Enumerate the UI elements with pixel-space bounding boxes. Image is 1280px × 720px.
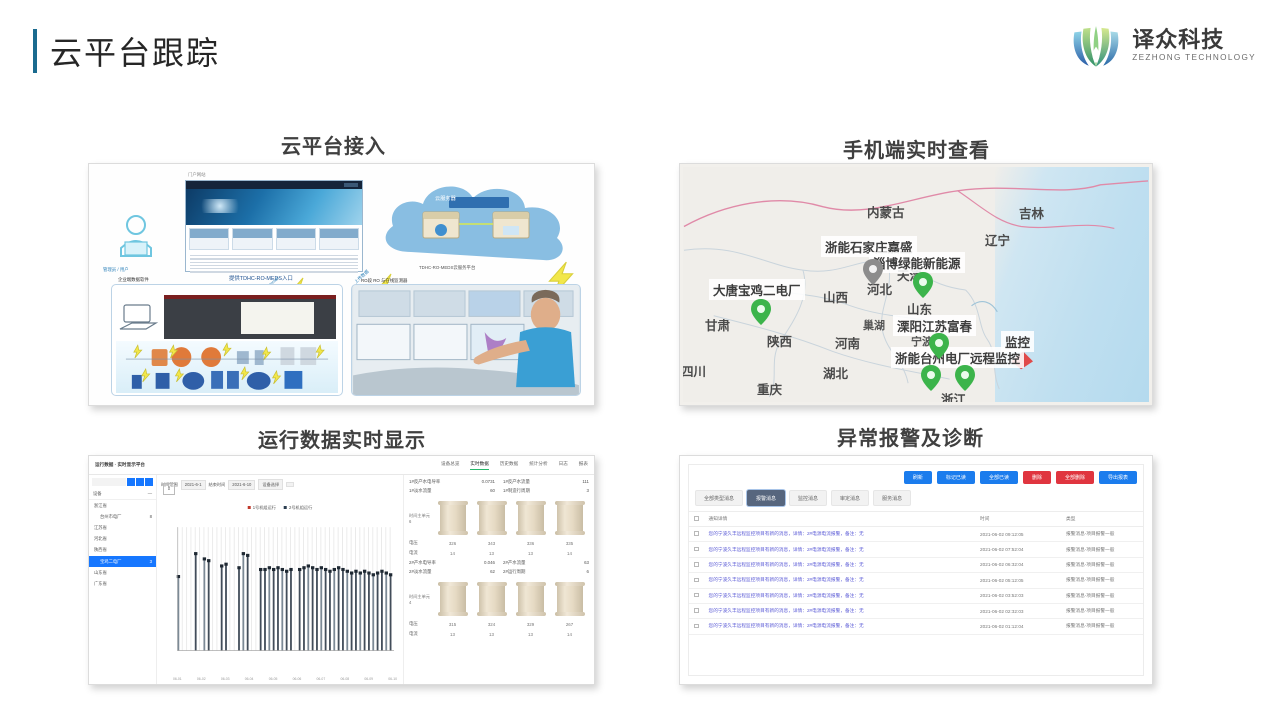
cell: 267 (550, 622, 589, 627)
title-accent-bar (33, 29, 37, 73)
user-person-icon (111, 212, 161, 264)
tank-graphic (479, 501, 505, 535)
web-portal-screenshot (185, 180, 363, 272)
cell-detail[interactable]: 您的宁波久丰远程监控项目有新的消息，详情：2#电源电流报警，备注：无 (704, 619, 976, 634)
cell-detail[interactable]: 您的宁波久丰远程监控项目有新的消息，详情：2#电源电流报警，备注：无 (704, 542, 976, 557)
tab-review-messages[interactable]: 审定消息 (831, 490, 869, 506)
cell: 14 (550, 632, 589, 637)
cell-time: 2021-06-02 01:12:04 (975, 619, 1061, 634)
map-label-chaohu: 巢湖 (863, 317, 885, 333)
device-tree-node[interactable]: 江苏省 (89, 522, 156, 533)
metric-key: 1#制造行周期 (503, 488, 530, 494)
person-role-label: 管理员 / 用户 (103, 267, 129, 273)
metric-kv: 1#制造行周期 3 (503, 488, 589, 494)
tank-graphic (518, 582, 544, 616)
map-label-gansu: 甘肃 (705, 315, 730, 334)
cell: 13 (511, 632, 550, 637)
page-title-text: 云平台跟踪 (50, 28, 220, 74)
refresh-button[interactable]: 刷新 (904, 471, 932, 484)
metric-value: 63 (584, 560, 589, 566)
logo-name-cn: 译众科技 (1132, 28, 1256, 52)
metric-value: 0.0731 (482, 479, 495, 485)
export-report-button[interactable]: 导出报表 (1099, 471, 1137, 484)
table-row[interactable]: 您的宁波久丰远程监控项目有新的消息，详情：2#电源电流报警，备注：无2021-0… (689, 603, 1143, 618)
cell-type: 报警消息-项目报警一般 (1061, 619, 1143, 634)
column-detail: 通知详情 (704, 512, 976, 527)
row-label: 电压 (409, 621, 433, 627)
table-row[interactable]: 您的宁波久丰远程监控项目有新的消息，详情：2#电源电流报警，备注：无2021-0… (689, 588, 1143, 603)
tank-graphic (479, 582, 505, 616)
table-header-row: 通知详情 时间 类型 (689, 512, 1143, 527)
map-label-shaanxi: 陕西 (767, 331, 792, 350)
cell: 14 (550, 551, 589, 556)
chart-svg (173, 521, 397, 665)
cell: 13 (511, 551, 550, 556)
device-tree-node[interactable]: 台州市电厂 8 (89, 511, 156, 522)
cloud-node-title: 云服务器 (435, 195, 456, 202)
quadrant-title-alarm-diagnosis: 异常报警及诊断 (837, 422, 984, 451)
runtime-data-panel: 运行数据 · 实时显示平台 设备总览 实时数据 历史数据 统计分析 日志 报表 (88, 455, 595, 685)
row-checkbox[interactable] (694, 562, 699, 567)
filter-icon[interactable] (136, 478, 144, 486)
chart-export-icon[interactable]: ⇕ (163, 483, 175, 495)
metric-key: 2#淡水流量 (409, 569, 431, 575)
cell-type: 报警消息-项目报警一般 (1061, 573, 1143, 588)
tree-node-label: 河北省 (94, 536, 107, 542)
select-all-cell[interactable] (689, 512, 704, 527)
map-label-chongqing: 重庆 (757, 379, 782, 398)
cell: 335 (550, 541, 589, 546)
runtime-metrics-table: 1#反产水电导率 0.0731 1#反产水流量 111 1#淡水流量 60 1#… (404, 475, 594, 685)
metric-kv: 2#运行周期 6 (503, 569, 589, 575)
process-flow-svg (116, 341, 338, 393)
cell-type: 报警消息-项目报警一般 (1061, 603, 1143, 618)
row-select-cell[interactable] (689, 557, 704, 572)
legend-label-2: 2号机组运行 (289, 505, 312, 510)
table-row[interactable]: 您的宁波久丰远程监控项目有新的消息，详情：2#电源电流报警，备注：无2021-0… (689, 619, 1143, 634)
device-tree-node[interactable]: 山东省 (89, 567, 156, 578)
row-select-cell[interactable] (689, 619, 704, 634)
cell: 326 (433, 541, 472, 546)
map-label-henan: 河南 (835, 333, 860, 352)
quadrant-title-runtime-data: 运行数据实时显示 (258, 424, 426, 453)
runtime-body: 设备 — 浙江省 台州市电厂 8 江苏省 河北省 (89, 475, 594, 685)
cell-detail[interactable]: 您的宁波久丰远程监控项目有新的消息，详情：2#电源电流报警，备注：无 (704, 573, 976, 588)
row-checkbox[interactable] (694, 578, 699, 583)
metric-value: 0.046 (484, 560, 495, 566)
slide-root: 云平台跟踪 (0, 0, 1280, 720)
cell: 13 (472, 551, 511, 556)
x-tick: 06-06 (293, 677, 302, 681)
metric-kv: 2#产水电导率 0.046 (409, 560, 495, 566)
legend-item-1: 1号机组运行 (248, 505, 276, 511)
x-tick: 06-04 (245, 677, 254, 681)
tank-graphic (557, 501, 583, 535)
alarm-tabs: 全部类型消息 报警消息 监控消息 审定消息 服务消息 (689, 488, 1143, 511)
photo-caption-label: RO段 RO 与在线监测器 (361, 278, 407, 284)
map-pin-offline[interactable] (863, 259, 883, 285)
tree-node-label: 浙江省 (94, 503, 107, 509)
tab-service-messages[interactable]: 服务消息 (873, 490, 911, 506)
device-tree-node[interactable]: 河北省 (89, 534, 156, 545)
row-select-cell[interactable] (689, 588, 704, 603)
tree-node-label: 台州市电厂 (100, 514, 121, 520)
cell-detail[interactable]: 您的宁波久丰远程监控项目有新的消息，详情：2#电源电流报警，备注：无 (704, 588, 976, 603)
enterprise-software-box: 企业端数据软件 人工录入数据 (111, 284, 343, 396)
legend-label-1: 1号机组运行 (253, 505, 276, 510)
metric-value: 62 (490, 569, 495, 575)
filter-query-button[interactable] (286, 482, 294, 487)
device-search-input[interactable] (92, 478, 126, 486)
refresh-icon[interactable] (145, 478, 153, 486)
tree-node-label: 广东省 (94, 581, 107, 587)
row-select-cell[interactable] (689, 527, 704, 542)
unit-label-1: 时间主单元 6 (409, 513, 433, 524)
row-label: 电流 (409, 631, 433, 637)
tank-graphic (518, 501, 544, 535)
cell-time: 2021-06-02 05:12:05 (975, 573, 1061, 588)
page-title: 云平台跟踪 (33, 28, 220, 74)
map-site-label-zibo[interactable]: 淄博绿能新能源 (869, 252, 965, 273)
table-row[interactable]: 您的宁波久丰远程监控项目有新的消息，详情：2#电源电流报警，备注：无2021-0… (689, 527, 1143, 542)
tab-all-messages[interactable]: 全部类型消息 (695, 490, 743, 506)
lotus-logo-icon (1069, 18, 1123, 72)
logo-text-block: 译众科技 ZEZHONG TECHNOLOGY (1132, 28, 1256, 63)
voltage-row-1: 电压 326 343 336 335 (409, 540, 589, 546)
delete-button[interactable]: 删除 (1023, 471, 1051, 484)
device-tree-node[interactable]: 广东省 (89, 578, 156, 589)
enterprise-box-label: 企业端数据软件 (118, 277, 149, 283)
metric-key: 1#淡水流量 (409, 488, 431, 494)
cell-detail[interactable]: 您的宁波久丰远程监控项目有新的消息，详情：2#电源电流报警，备注：无 (704, 527, 976, 542)
map-label-shanxi: 山西 (823, 287, 848, 306)
row-checkbox[interactable] (694, 593, 699, 598)
search-icon[interactable] (127, 478, 135, 486)
filter-label: 结束时间 (209, 482, 226, 488)
chart-plot (173, 521, 397, 665)
cloud-platform-label: TDHC-RO-MEDS云服务平台 (419, 265, 475, 271)
filter-end-date[interactable]: 2021-6-10 (228, 480, 255, 490)
metric-kv: 1#淡水流量 60 (409, 488, 495, 494)
metric-value: 6 (587, 569, 589, 575)
control-room-photo (351, 284, 581, 396)
alarm-diagnosis-panel: 刷新 标记已读 全部已读 删除 全部删除 导出报表 全部类型消息 报警消息 监控… (679, 455, 1153, 685)
cell-time: 2021-06-02 06:32:04 (975, 557, 1061, 572)
cell: 13 (433, 632, 472, 637)
cell-type: 报警消息-项目报警一般 (1061, 557, 1143, 572)
metric-key: 1#反产水流量 (503, 479, 530, 485)
map-label-hubei: 湖北 (823, 363, 848, 382)
quadrant-title-cloud-access: 云平台接入 (281, 130, 386, 159)
current-row-1: 电流 14 13 13 14 (409, 550, 589, 556)
map-label-sichuan: 四川 (683, 361, 706, 380)
cell-time: 2021-06-02 07:52:04 (975, 542, 1061, 557)
legend-item-2: 2号机组运行 (284, 505, 312, 511)
runtime-nav[interactable]: 设备总览 实时数据 历史数据 统计分析 日志 报表 (441, 461, 588, 470)
row-label: 电压 (409, 540, 433, 546)
chart-filter-bar[interactable]: 时间范围 2021-6-1 结束时间 2021-6-10 设备选择 (157, 475, 403, 494)
voltage-row-2: 电压 315 324 329 267 (409, 621, 589, 627)
runtime-topbar: 运行数据 · 实时显示平台 设备总览 实时数据 历史数据 统计分析 日志 报表 (89, 456, 594, 475)
metric-key: 2#运行周期 (503, 569, 525, 575)
process-flow-graphic (116, 341, 338, 393)
browser-title-bar (186, 181, 362, 189)
cell-detail[interactable]: 您的宁波久丰远程监控项目有新的消息，详情：2#电源电流报警，备注：无 (704, 557, 976, 572)
metric-key: 2#产水流量 (503, 560, 525, 566)
x-tick: 06-02 (197, 677, 206, 681)
metric-kv: 2#产水流量 63 (503, 560, 589, 566)
tree-node-label: 江苏省 (94, 525, 107, 531)
row-checkbox[interactable] (694, 547, 699, 552)
metric-value: 60 (490, 488, 495, 494)
tank-graphic (440, 582, 466, 616)
device-tree-node-selected[interactable]: 宝鸡二电厂 3 (89, 556, 156, 567)
map-pin-online[interactable] (929, 333, 949, 359)
filter-device-select[interactable]: 设备选择 (258, 479, 283, 490)
company-logo: 译众科技 ZEZHONG TECHNOLOGY (1069, 18, 1256, 72)
select-all-checkbox[interactable] (694, 516, 699, 521)
collapse-icon[interactable]: — (148, 491, 152, 497)
row-select-cell[interactable] (689, 542, 704, 557)
metric-value: 3 (587, 488, 589, 494)
cell-type: 报警消息-项目报警一般 (1061, 527, 1143, 542)
x-tick: 06-09 (364, 677, 373, 681)
control-room-illustration (352, 285, 580, 395)
x-tick: 06-08 (340, 677, 349, 681)
portal-card (232, 228, 272, 250)
row-checkbox[interactable] (694, 624, 699, 629)
runtime-nav-item[interactable]: 统计分析 (529, 461, 547, 470)
current-row-2: 电流 13 13 13 14 (409, 631, 589, 637)
cell-time: 2021-06-02 03:52:03 (975, 588, 1061, 603)
alarm-table-body: 您的宁波久丰远程监控项目有新的消息，详情：2#电源电流报警，备注：无2021-0… (689, 527, 1143, 635)
metric-kv: 1#反产水电导率 0.0731 (409, 479, 495, 485)
cell: 336 (511, 541, 550, 546)
quadrant-title-mobile-view: 手机端实时查看 (843, 134, 990, 163)
device-tree-node[interactable]: 浙江省 (89, 500, 156, 511)
software-screenshot (164, 295, 336, 339)
tab-alarm-messages[interactable]: 报警消息 (747, 490, 785, 506)
map-site-label-monitor[interactable]: 监控 (1001, 331, 1034, 352)
map-label-jilin: 吉林 (1019, 203, 1044, 222)
portal-card (319, 228, 359, 250)
cell: 14 (433, 551, 472, 556)
tree-node-count: 8 (150, 514, 152, 520)
table-row[interactable]: 您的宁波久丰远程监控项目有新的消息，详情：2#电源电流报警，备注：无2021-0… (689, 542, 1143, 557)
mark-all-read-button[interactable]: 全部已读 (980, 471, 1018, 484)
cell-time: 2021-06-02 09:12:05 (975, 527, 1061, 542)
chart-legend: 1号机组运行 2号机组运行 (248, 505, 313, 511)
mark-read-button[interactable]: 标记已读 (937, 471, 975, 484)
x-tick: 06-10 (388, 677, 397, 681)
cell-detail[interactable]: 您的宁波久丰远程监控项目有新的消息，详情：2#电源电流报警，备注：无 (704, 603, 976, 618)
row-checkbox[interactable] (694, 531, 699, 536)
row-select-cell[interactable] (689, 573, 704, 588)
x-tick: 06-03 (221, 677, 230, 681)
logo-name-en: ZEZHONG TECHNOLOGY (1132, 53, 1256, 62)
alarm-inner: 刷新 标记已读 全部已读 删除 全部删除 导出报表 全部类型消息 报警消息 监控… (688, 464, 1144, 676)
map-label-liaoning: 辽宁 (985, 230, 1010, 249)
cell: 324 (472, 622, 511, 627)
row-checkbox[interactable] (694, 608, 699, 613)
cell: 343 (472, 541, 511, 546)
map-pin-online[interactable] (921, 365, 941, 391)
cell: 13 (472, 632, 511, 637)
device-tree-header: 设备 — (89, 489, 156, 500)
column-type: 类型 (1061, 512, 1143, 527)
metric-kv: 1#反产水流量 111 (503, 479, 589, 485)
tank-graphic (557, 582, 583, 616)
device-tree-sidebar: 设备 — 浙江省 台州市电厂 8 江苏省 河北省 (89, 475, 157, 685)
tab-monitor-messages[interactable]: 监控消息 (789, 490, 827, 506)
tree-node-label: 宝鸡二电厂 (100, 559, 121, 565)
runtime-nav-item[interactable]: 历史数据 (500, 461, 518, 470)
metric-key: 2#产水电导率 (409, 560, 436, 566)
metric-kv: 2#淡水流量 62 (409, 569, 495, 575)
column-time: 时间 (975, 512, 1061, 527)
delete-all-button[interactable]: 全部删除 (1056, 471, 1094, 484)
device-tree-node[interactable]: 陕西省 (89, 545, 156, 556)
desktop-computer-icon (118, 303, 158, 331)
cloud-access-diagram-panel: 管理员 / 用户 门户网站 提供TDHC-RO-MEDS入口 (88, 163, 595, 406)
metric-key: 1#反产水电导率 (409, 479, 440, 485)
runtime-brand: 运行数据 · 实时显示平台 (95, 462, 145, 468)
mobile-realtime-map-panel: 内蒙古 吉林 辽宁 河北 天津 山西 山东 甘肃 陕西 河南 湖北 重庆 四川 … (679, 163, 1153, 406)
tree-node-label: 山东省 (94, 570, 107, 576)
portal-card-row (186, 225, 362, 253)
x-tick: 06-01 (173, 677, 182, 681)
portal-card (276, 228, 316, 250)
runtime-nav-item-active[interactable]: 实时数据 (470, 461, 488, 470)
runtime-nav-item[interactable]: 设备总览 (441, 461, 459, 470)
china-map-canvas[interactable]: 内蒙古 吉林 辽宁 河北 天津 山西 山东 甘肃 陕西 河南 湖北 重庆 四川 … (683, 167, 1149, 402)
runtime-nav-item[interactable]: 报表 (579, 461, 588, 470)
tree-node-count: 3 (150, 559, 152, 565)
metric-value: 111 (582, 479, 589, 485)
alarm-action-buttons: 刷新 标记已读 全部已读 删除 全部删除 导出报表 (689, 465, 1143, 488)
runtime-nav-item[interactable]: 日志 (559, 461, 568, 470)
device-search-row[interactable] (89, 475, 156, 489)
tank-row-1 (433, 501, 589, 535)
tank-row-2 (433, 582, 589, 616)
alarm-table: 通知详情 时间 类型 您的宁波久丰远程监控项目有新的消息，详情：2#电源电流报警… (689, 511, 1143, 635)
portal-card (189, 228, 229, 250)
cell-time: 2021-06-02 02:32:03 (975, 603, 1061, 618)
map-label-neimenggu: 内蒙古 (867, 202, 905, 221)
row-label: 电流 (409, 550, 433, 556)
device-tree-header-label: 设备 (93, 491, 102, 497)
map-pin-online[interactable] (751, 299, 771, 325)
row-select-cell[interactable] (689, 603, 704, 618)
alarm-table-head: 通知详情 时间 类型 (689, 512, 1143, 527)
runtime-chart-area: 时间范围 2021-6-1 结束时间 2021-6-10 设备选择 1号机组运行… (157, 475, 404, 685)
cell: 329 (511, 622, 550, 627)
tank-graphic (440, 501, 466, 535)
unit-label-2: 时间主单元 4 (409, 594, 433, 605)
tree-node-label: 陕西省 (94, 547, 107, 553)
chart-x-axis-ticks: 06-01 06-02 06-03 06-04 06-05 06-06 06-0… (173, 677, 397, 681)
cell-type: 报警消息-项目报警一般 (1061, 588, 1143, 603)
table-row[interactable]: 您的宁波久丰远程监控项目有新的消息，详情：2#电源电流报警，备注：无2021-0… (689, 573, 1143, 588)
map-pin-online[interactable] (913, 272, 933, 298)
x-tick: 06-05 (269, 677, 278, 681)
filter-start-date[interactable]: 2021-6-1 (181, 480, 206, 490)
map-pin-online[interactable] (955, 365, 975, 391)
browser-url-label: 门户网站 (188, 172, 206, 178)
cell: 315 (433, 622, 472, 627)
table-row[interactable]: 您的宁波久丰远程监控项目有新的消息，详情：2#电源电流报警，备注：无2021-0… (689, 557, 1143, 572)
portal-hero-banner (186, 189, 362, 225)
map-site-label-baoji[interactable]: 大唐宝鸡二电厂 (709, 279, 805, 300)
cell-type: 报警消息-项目报警一般 (1061, 542, 1143, 557)
x-tick: 06-07 (317, 677, 326, 681)
